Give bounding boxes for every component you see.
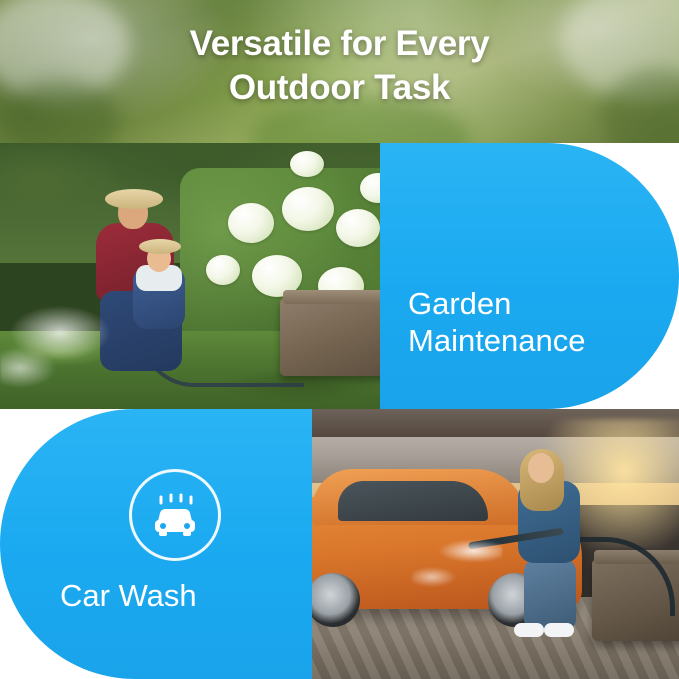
garden-photo [0,143,400,409]
car-wash-panel: Car Wash [0,409,312,679]
garden-label-line-1: Garden [408,285,668,322]
hydrangea-bloom [206,255,240,285]
car-window [338,481,488,521]
water-spray-garden [0,293,150,409]
child-sun-hat [139,239,181,254]
car-wheel [306,573,360,627]
car-wash-panel-label: Car Wash [60,577,310,614]
garden-label-line-2: Maintenance [408,322,668,359]
car-wash-icon [129,469,221,561]
feature-row-car-wash: Car Wash [0,409,679,679]
adult-sun-hat [105,189,163,209]
header-banner: Versatile for Every Outdoor Task [0,0,679,143]
woman-legs [524,559,576,631]
garden-panel: Garden Maintenance [380,143,679,409]
hydrangea-bloom [228,203,274,243]
feature-row-garden: Garden Maintenance [0,143,679,409]
hydrangea-bloom [290,151,324,177]
title-line-2: Outdoor Task [0,66,679,110]
woman-head [528,453,554,483]
woman-shoe [544,623,574,637]
hydrangea-bloom [336,209,380,247]
garden-panel-label: Garden Maintenance [408,285,668,359]
water-jet [412,537,502,593]
title-line-1: Versatile for Every [0,22,679,66]
product-feature-image: Versatile for Every Outdoor Task [0,0,679,679]
woman-shoe [514,623,544,637]
hydrangea-bloom [282,187,334,231]
car-wash-label-line-1: Car Wash [60,577,310,614]
car-wash-photo [292,409,679,679]
page-title: Versatile for Every Outdoor Task [0,22,679,110]
